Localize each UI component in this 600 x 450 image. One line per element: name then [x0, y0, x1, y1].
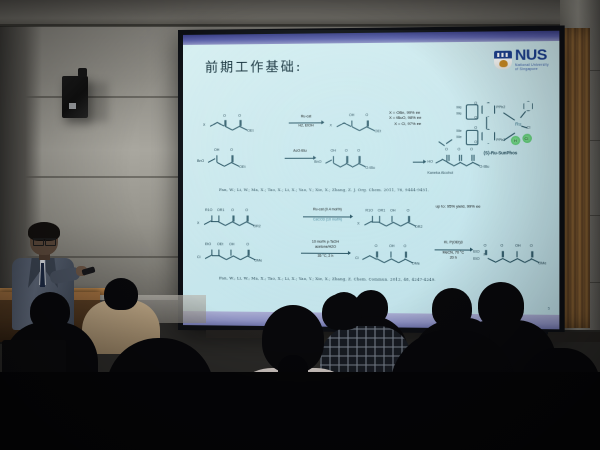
nus-logo: NUS National University of Singapore — [494, 47, 549, 72]
atom-o2: O — [500, 244, 503, 248]
nus-shield-icon — [494, 50, 512, 69]
slide-page-number: 5 — [548, 307, 550, 311]
atom-bno: BnO — [197, 159, 204, 163]
scheme4-final: EtO EtO P O O OH O — [473, 241, 559, 266]
scheme2-substrate: BnO OH O OEt — [197, 147, 288, 167]
atom-oet: OEt — [375, 129, 381, 133]
nus-wordmark: NUS — [515, 47, 549, 63]
kaneka-alcohol-label: Kaneka Alcohol — [427, 171, 453, 176]
atom-me: Me — [456, 105, 461, 109]
reagent-caco3: CaCO3 (10 mol%) — [302, 217, 353, 222]
atom-oh: OH — [515, 244, 521, 248]
result-line-3: X = Cl, 97% ee — [389, 121, 462, 127]
reagent-acetone-water: acetone/H2O — [300, 245, 351, 250]
lecture-hall-photo: 前期工作基础: NUS National University of Singa… — [0, 0, 600, 450]
atom-o2: O — [404, 244, 407, 248]
desk-ledge — [548, 332, 600, 342]
atom-o2: O — [245, 208, 248, 212]
reagent-temp-time: 35 °C, 2 h — [300, 254, 351, 259]
atom-o: O — [365, 113, 368, 117]
atom-ome: OMe — [538, 261, 546, 265]
atom-eto: EtO — [205, 242, 211, 246]
atom-eto: EtO — [473, 250, 479, 254]
atom-ome: OMe — [254, 258, 262, 262]
atom-eto: EtO — [473, 257, 479, 261]
speaker-badge — [69, 103, 76, 109]
audience-head — [104, 278, 138, 310]
reagent-20h: 20 h — [434, 255, 474, 260]
atom-x: X — [203, 123, 205, 127]
atom-or1: OR1 — [217, 208, 224, 212]
atom-or2: OR2 — [253, 224, 260, 228]
atom-o: O — [474, 101, 477, 105]
atom-x: X — [357, 222, 359, 226]
atom-o: O — [445, 147, 448, 151]
scheme2-product: BnO OH O O O-tBu — [314, 146, 412, 168]
atom-o2: O — [357, 149, 360, 153]
atom-oh: OH — [349, 113, 355, 117]
atom-o: O — [474, 140, 477, 144]
scheme3-yield-note: up to: 95% yield, 99% ee — [436, 203, 481, 209]
atom-oh: OH — [214, 148, 219, 152]
scheme4-product: Cl O OH O OMe — [355, 243, 436, 266]
citation-2: Fan, W.; Li, W.; Ma, X.; Tao, X.; Li, X.… — [219, 275, 436, 282]
reagent-ru-cat-loading: Ru-cat (0.4 mol%) — [302, 207, 353, 212]
atom-o1: O — [223, 114, 226, 118]
scheme2-arrow2 — [413, 162, 425, 163]
atom-bno: BnO — [314, 160, 321, 164]
atom-me: Me — [456, 129, 461, 133]
atom-otbu: O-tBu — [365, 166, 375, 170]
atom-o: O — [484, 243, 487, 247]
atom-o: O — [345, 149, 348, 153]
reagent-ki-poet3: KI, P(OEt)3 — [434, 240, 474, 245]
atom-oh: OH — [229, 242, 234, 246]
atom-o3: O — [530, 244, 533, 248]
foreground-darkness — [0, 372, 600, 450]
glasses-icon — [33, 238, 56, 244]
atom-o: O — [246, 242, 249, 246]
scheme3-substrate: X R1O OR1 O O OR2 — [197, 207, 298, 231]
atom-cl: Cl — [525, 136, 529, 140]
speaker-shadow — [86, 82, 108, 122]
atom-o: O — [230, 148, 233, 152]
scheme1-substrate: X O O OEt — [203, 112, 286, 132]
desk-ledge — [206, 330, 266, 338]
atom-or2: OR2 — [415, 225, 423, 229]
atom-r1o: R1O — [205, 208, 212, 212]
scheme3-product: X R1O OR1 OH O OR2 — [357, 207, 460, 232]
atom-or1: OR1 — [378, 208, 386, 212]
catalyst-name: (S)-Ru-SunPhos — [484, 150, 518, 155]
atom-o: O — [231, 208, 234, 212]
atom-o2: O — [238, 114, 241, 118]
atom-x: X — [197, 221, 199, 225]
atom-pph2: PPh2 — [496, 105, 505, 109]
atom-oet: OEt — [239, 165, 245, 169]
citation-1: Fan, W.; Li, W.; Ma, X.; Tao, X.; Li, X.… — [219, 187, 429, 192]
scheme1-results: X = OBn, 99% ee X = tBuO, 98% ee X = Cl,… — [389, 109, 462, 126]
scheme4-substrate: Cl EtO OEt OH O OMe — [197, 240, 298, 265]
atom-oh: OH — [390, 208, 396, 212]
ceiling-slab — [0, 0, 600, 26]
atom-me: Me — [456, 112, 461, 116]
atom-h: H — [514, 138, 517, 142]
atom-oh: OH — [331, 149, 337, 153]
reagent-mecn: MeCN, 70 °C — [434, 250, 474, 255]
nus-subtitle-line2: of Singapore — [515, 67, 549, 72]
reagent-ru-cat: Ru-cat — [288, 114, 325, 119]
atom-cl: Cl — [197, 255, 200, 259]
reagent-h2-etoh: H2, EtOH — [288, 123, 325, 128]
wall-speaker-icon — [62, 76, 88, 118]
atom-ho: HO — [427, 160, 433, 164]
catalyst-structure: Me Me O O Me Me O O PPh2 PPh2 Ru — [456, 95, 557, 175]
slide-title: 前期工作基础: — [205, 56, 302, 76]
atom-oet: OEt — [217, 242, 223, 246]
atom-o: O — [407, 209, 410, 213]
atom-o: O — [375, 244, 378, 248]
reagent-acotbu: AcO-tBu — [284, 149, 317, 154]
atom-me: Me — [456, 135, 461, 139]
atom-x: X — [330, 123, 332, 127]
slide-top-band — [183, 31, 559, 45]
speaker-mount — [78, 68, 87, 77]
atom-ome: OMe — [412, 261, 420, 265]
audience-head — [326, 292, 362, 330]
atom-o: O — [474, 126, 477, 130]
atom-oh: OH — [389, 244, 395, 248]
atom-oet: OEt — [247, 129, 253, 133]
atom-o: O — [474, 116, 477, 120]
atom-r1o: R1O — [365, 208, 373, 212]
atom-cl: Cl — [355, 256, 358, 260]
